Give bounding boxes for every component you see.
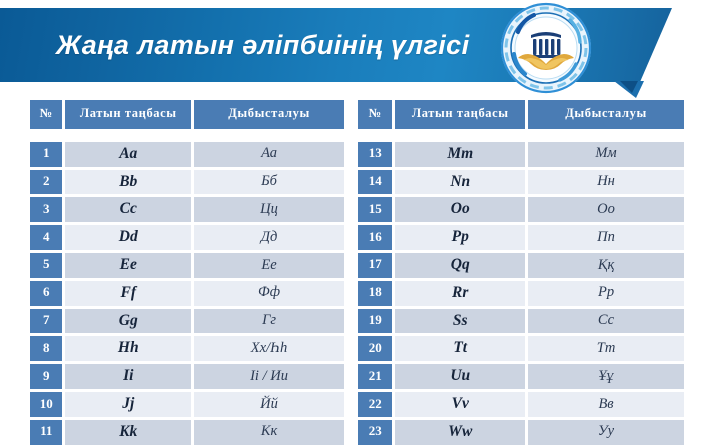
cell-latin-letter: Pp	[394, 224, 526, 251]
cell-number: 6	[29, 280, 63, 307]
alphabet-table-left: № Латын таңбасы Дыбысталуы 1AaАа2BbБб3Cc…	[28, 98, 346, 446]
table-row: 16PpПп	[357, 224, 685, 251]
cell-sound: Ққ	[527, 252, 685, 279]
cell-latin-letter: Ww	[394, 419, 526, 446]
cell-latin-letter: Ee	[64, 252, 192, 279]
table-row: 9IiІі / Ии	[29, 363, 345, 390]
cell-sound: Вв	[527, 391, 685, 418]
cell-latin-letter: Aa	[64, 141, 192, 168]
cell-latin-letter: Ss	[394, 308, 526, 335]
cell-latin-letter: Dd	[64, 224, 192, 251]
table-row: 3CcЦц	[29, 196, 345, 223]
cell-sound: Хх/Һһ	[193, 335, 345, 362]
table-row: 23WwУу	[357, 419, 685, 446]
table-head-right: № Латын таңбасы Дыбысталуы	[357, 99, 685, 130]
alphabet-table-right: № Латын таңбасы Дыбысталуы 13MmМм14NnНн1…	[356, 98, 686, 446]
cell-sound: Оо	[527, 196, 685, 223]
cell-latin-letter: Oo	[394, 196, 526, 223]
cell-latin-letter: Ff	[64, 280, 192, 307]
table-row: 22VvВв	[357, 391, 685, 418]
cell-latin-letter: Bb	[64, 169, 192, 196]
cell-number: 21	[357, 363, 393, 390]
cell-latin-letter: Tt	[394, 335, 526, 362]
cell-latin-letter: Nn	[394, 169, 526, 196]
cell-number: 14	[357, 169, 393, 196]
cell-number: 7	[29, 308, 63, 335]
cell-number: 19	[357, 308, 393, 335]
table-row: 13MmМм	[357, 141, 685, 168]
cell-number: 10	[29, 391, 63, 418]
col-header-latin: Латын таңбасы	[394, 99, 526, 130]
table-row: 10JjЙй	[29, 391, 345, 418]
table-row: 18RrРр	[357, 280, 685, 307]
cell-sound: Ее	[193, 252, 345, 279]
table-row: 14NnНн	[357, 169, 685, 196]
col-header-number: №	[357, 99, 393, 130]
cell-latin-letter: Jj	[64, 391, 192, 418]
cell-number: 18	[357, 280, 393, 307]
table-header-row: № Латын таңбасы Дыбысталуы	[357, 99, 685, 130]
table-head-left: № Латын таңбасы Дыбысталуы	[29, 99, 345, 130]
cell-sound: Кк	[193, 419, 345, 446]
cell-number: 2	[29, 169, 63, 196]
col-header-sound: Дыбысталуы	[193, 99, 345, 130]
cell-latin-letter: Gg	[64, 308, 192, 335]
cell-sound: Дд	[193, 224, 345, 251]
cell-number: 17	[357, 252, 393, 279]
table-row: 11KkКк	[29, 419, 345, 446]
col-header-sound: Дыбысталуы	[527, 99, 685, 130]
table-row: 6FfФф	[29, 280, 345, 307]
cell-sound: Сс	[527, 308, 685, 335]
table-body-right: 13MmМм14NnНн15OoОо16PpПп17QqҚқ18RrРр19Ss…	[357, 131, 685, 446]
title-banner: Жаңа латын әліпбиінің үлгісі	[0, 8, 705, 86]
cell-number: 20	[357, 335, 393, 362]
table-row: 15OoОо	[357, 196, 685, 223]
table-row: 4DdДд	[29, 224, 345, 251]
cell-number: 9	[29, 363, 63, 390]
cell-number: 8	[29, 335, 63, 362]
table-spacer-row	[29, 131, 345, 140]
cell-sound: Рр	[527, 280, 685, 307]
table-spacer-cell	[29, 131, 345, 140]
cell-sound: Цц	[193, 196, 345, 223]
table-header-row: № Латын таңбасы Дыбысталуы	[29, 99, 345, 130]
cell-sound: Фф	[193, 280, 345, 307]
table-body-left: 1AaАа2BbБб3CcЦц4DdДд5EeЕе6FfФф7GgГг8HhХх…	[29, 131, 345, 446]
alphabet-table-right-holder: № Латын таңбасы Дыбысталуы 13MmМм14NnНн1…	[356, 98, 686, 446]
col-header-latin: Латын таңбасы	[64, 99, 192, 130]
cell-number: 3	[29, 196, 63, 223]
cell-latin-letter: Kk	[64, 419, 192, 446]
cell-number: 15	[357, 196, 393, 223]
cell-sound: Іі / Ии	[193, 363, 345, 390]
cell-number: 22	[357, 391, 393, 418]
table-row: 8HhХх/Һһ	[29, 335, 345, 362]
table-row: 5EeЕе	[29, 252, 345, 279]
cell-latin-letter: Qq	[394, 252, 526, 279]
cell-latin-letter: Ii	[64, 363, 192, 390]
cell-number: 5	[29, 252, 63, 279]
cell-sound: Пп	[527, 224, 685, 251]
table-row: 20TtТт	[357, 335, 685, 362]
table-row: 7GgГг	[29, 308, 345, 335]
cell-number: 16	[357, 224, 393, 251]
cell-sound: Ұұ	[527, 363, 685, 390]
cell-sound: Гг	[193, 308, 345, 335]
slide-root: Жаңа латын әліпбиінің үлгісі	[0, 0, 705, 446]
table-row: 2BbБб	[29, 169, 345, 196]
table-row: 17QqҚқ	[357, 252, 685, 279]
cell-latin-letter: Vv	[394, 391, 526, 418]
cell-latin-letter: Rr	[394, 280, 526, 307]
page-title: Жаңа латын әліпбиінің үлгісі	[56, 8, 469, 82]
cell-number: 4	[29, 224, 63, 251]
table-row: 19SsСс	[357, 308, 685, 335]
cell-sound: Йй	[193, 391, 345, 418]
cell-number: 1	[29, 141, 63, 168]
cell-latin-letter: Mm	[394, 141, 526, 168]
cell-sound: Тт	[527, 335, 685, 362]
cell-sound: Нн	[527, 169, 685, 196]
university-emblem-icon	[500, 2, 592, 94]
table-row: 21UuҰұ	[357, 363, 685, 390]
alphabet-tables: № Латын таңбасы Дыбысталуы 1AaАа2BbБб3Cc…	[0, 98, 705, 446]
col-header-number: №	[29, 99, 63, 130]
cell-sound: Аа	[193, 141, 345, 168]
cell-latin-letter: Hh	[64, 335, 192, 362]
table-spacer-row	[357, 131, 685, 140]
table-row: 1AaАа	[29, 141, 345, 168]
cell-number: 11	[29, 419, 63, 446]
cell-number: 13	[357, 141, 393, 168]
cell-sound: Уу	[527, 419, 685, 446]
cell-number: 23	[357, 419, 393, 446]
cell-latin-letter: Cc	[64, 196, 192, 223]
cell-sound: Бб	[193, 169, 345, 196]
cell-sound: Мм	[527, 141, 685, 168]
alphabet-table-left-holder: № Латын таңбасы Дыбысталуы 1AaАа2BbБб3Cc…	[28, 98, 346, 446]
cell-latin-letter: Uu	[394, 363, 526, 390]
table-spacer-cell	[357, 131, 685, 140]
